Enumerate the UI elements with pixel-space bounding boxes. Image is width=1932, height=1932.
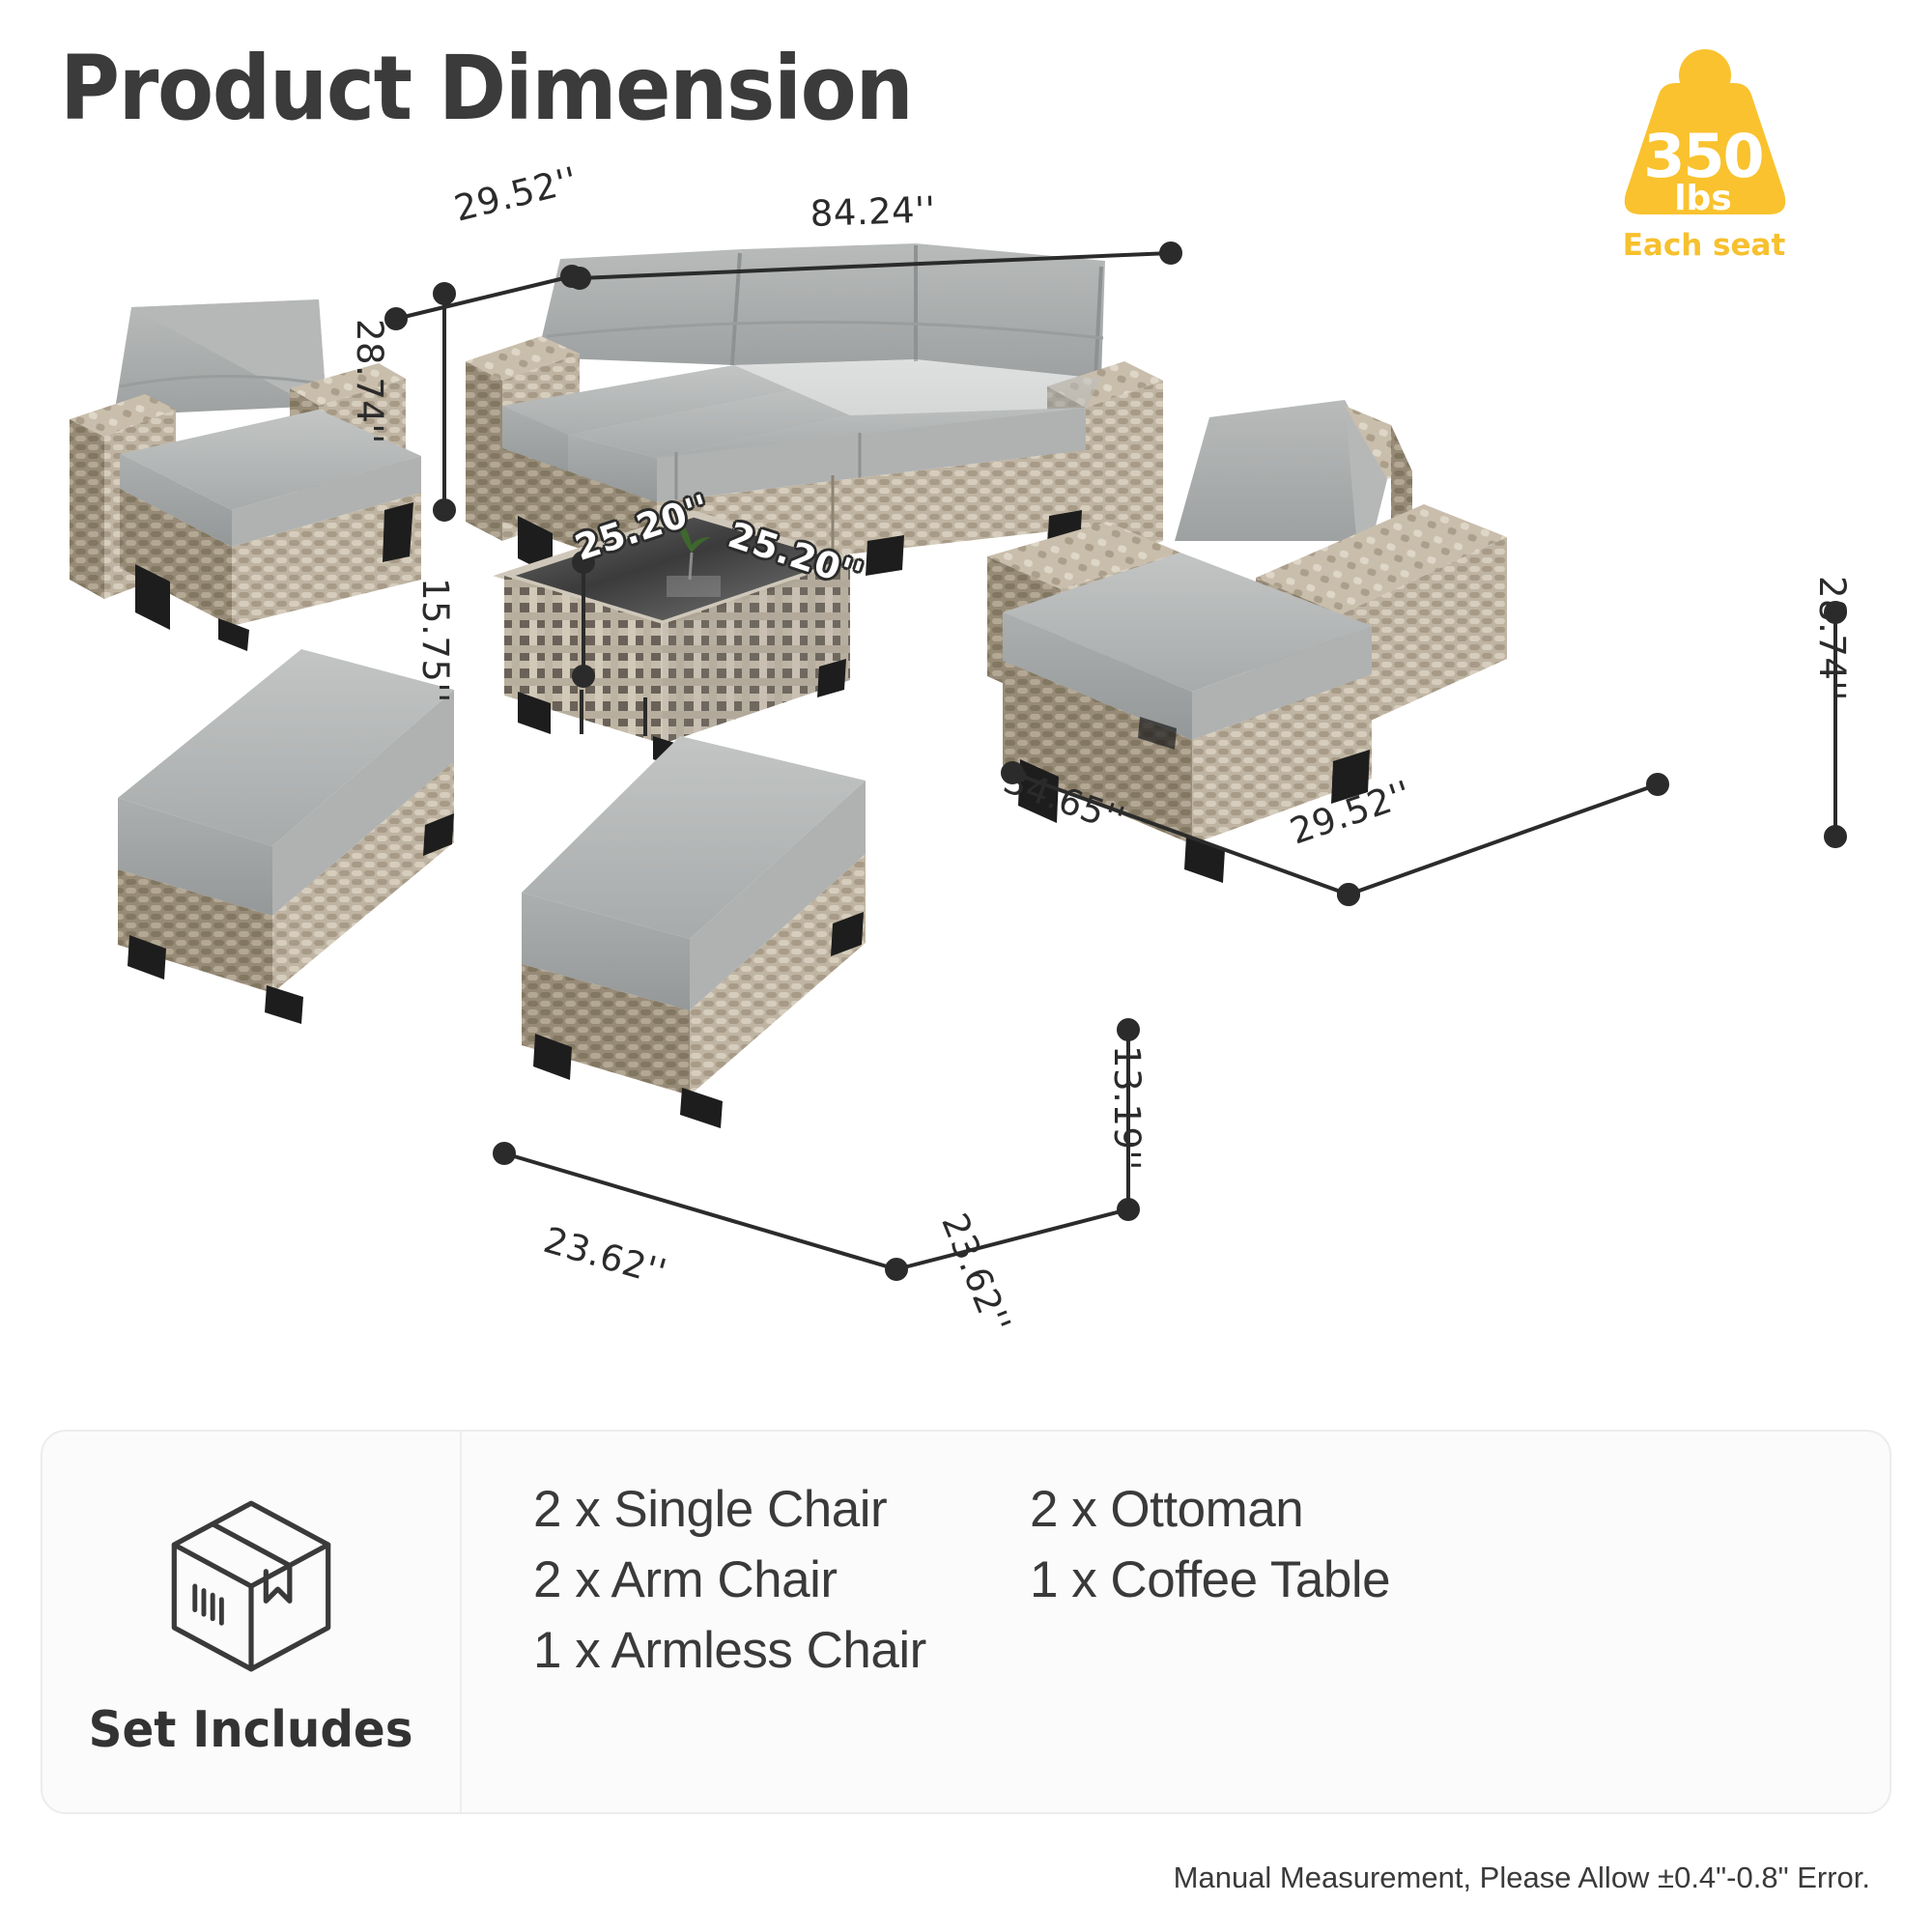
ottoman-center [522, 736, 866, 1128]
set-includes-list: 2 x Single Chair 2 x Arm Chair 1 x Armle… [462, 1432, 1889, 1812]
list-item: 1 x Coffee Table [1030, 1545, 1571, 1615]
dim-label-ottoman-height: 13.19'' [1106, 1045, 1148, 1171]
ottoman-left [118, 649, 454, 1024]
dim-label-chair-height: 28.74'' [1811, 576, 1853, 701]
dim-label-sofa-height: 28.74'' [349, 319, 390, 444]
measurement-disclaimer: Manual Measurement, Please Allow ±0.4"-0… [1174, 1861, 1870, 1895]
set-includes-column-1: 2 x Single Chair 2 x Arm Chair 1 x Armle… [533, 1474, 1030, 1774]
set-includes-column-2: 2 x Ottoman 1 x Coffee Table [1030, 1474, 1571, 1774]
dim-label-sofa-width: 84.24'' [810, 188, 936, 235]
package-box-icon [160, 1494, 342, 1678]
set-includes-panel: Set Includes 2 x Single Chair 2 x Arm Ch… [41, 1430, 1891, 1814]
product-dimension-infographic: Product Dimension 350 lbs Each seat [0, 0, 1932, 1932]
furniture-illustration [0, 0, 1932, 1410]
list-item: 2 x Single Chair [533, 1474, 1030, 1545]
set-includes-title: Set Includes [89, 1701, 413, 1759]
list-item: 2 x Ottoman [1030, 1474, 1571, 1545]
list-item: 1 x Armless Chair [533, 1615, 1030, 1686]
dim-label-table-height: 15.75'' [414, 578, 456, 703]
furniture-scene: 29.52'' 84.24'' 28.74'' 25.20'' 25.20'' … [0, 0, 1932, 1410]
set-includes-left: Set Includes [43, 1432, 462, 1812]
list-item: 2 x Arm Chair [533, 1545, 1030, 1615]
